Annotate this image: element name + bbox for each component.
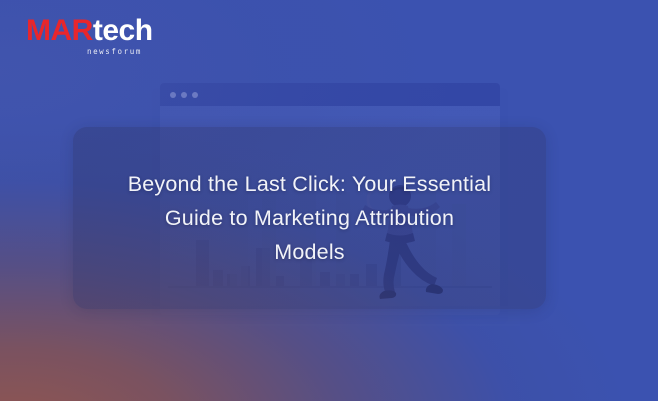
title-line-1: Beyond the Last Click: Your Essential: [128, 167, 492, 201]
title-line-3: Models: [274, 235, 345, 269]
logo-tagline: newsforum: [26, 47, 142, 57]
logo-wordmark-primary: MAR: [26, 14, 93, 47]
logo-wordmark-secondary: tech: [93, 14, 153, 47]
page-title: Beyond the Last Click: Your Essential Gu…: [73, 127, 546, 309]
screenshot-canvas: Beyond the Last Click: Your Essential Gu…: [0, 0, 658, 401]
title-line-2: Guide to Marketing Attribution: [165, 201, 454, 235]
brand-logo[interactable]: MARtech newsforum: [26, 16, 176, 60]
logo-wordmark: MARtech: [26, 16, 176, 46]
